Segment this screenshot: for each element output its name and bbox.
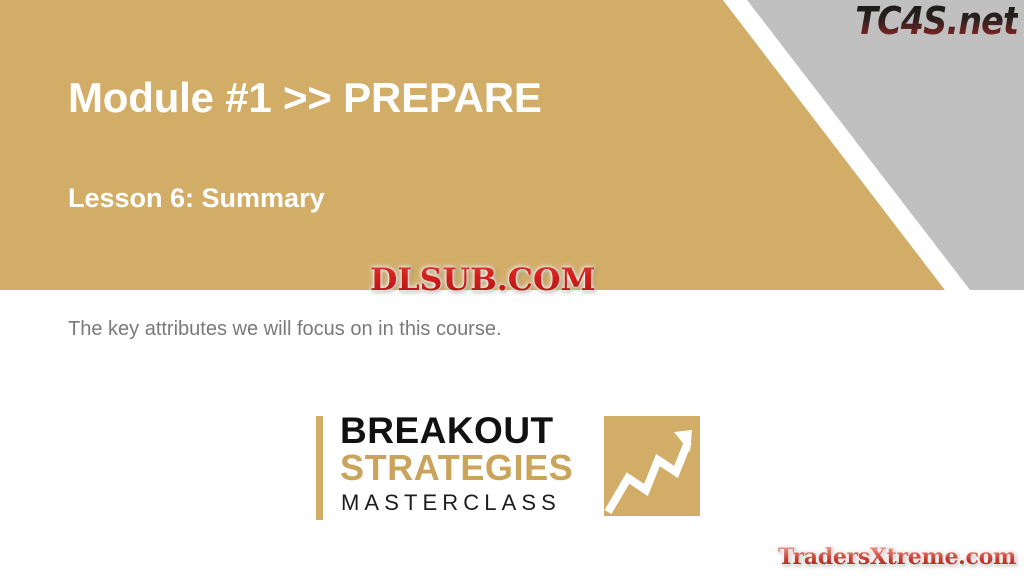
- tc4s-watermark: TC4S.net: [855, 2, 1018, 40]
- breakout-strategies-masterclass-logo: BREAKOUT STRATEGIES MASTERCLASS: [316, 412, 708, 520]
- dlsub-watermark: DLSUB.COM: [370, 262, 596, 298]
- tradersxtreme-watermark: TradersXtreme.com: [778, 546, 1016, 568]
- logo-accent-bar: [316, 416, 323, 520]
- upward-zigzag-arrow-icon: [604, 416, 700, 516]
- logo-mark-tile: [604, 416, 700, 516]
- module-title: Module #1 >> PREPARE: [68, 75, 542, 121]
- logo-line-breakout: BREAKOUT: [340, 412, 554, 449]
- lesson-title: Lesson 6: Summary: [68, 184, 325, 214]
- header-banner: Module #1 >> PREPARE Lesson 6: Summary T…: [0, 0, 1024, 290]
- logo-line-masterclass: MASTERCLASS: [341, 492, 561, 514]
- slide-canvas: Module #1 >> PREPARE Lesson 6: Summary T…: [0, 0, 1024, 576]
- body-copy-text: The key attributes we will focus on in t…: [68, 317, 502, 342]
- logo-line-strategies: STRATEGIES: [340, 450, 573, 486]
- logo-wordmark: BREAKOUT STRATEGIES MASTERCLASS: [340, 412, 610, 520]
